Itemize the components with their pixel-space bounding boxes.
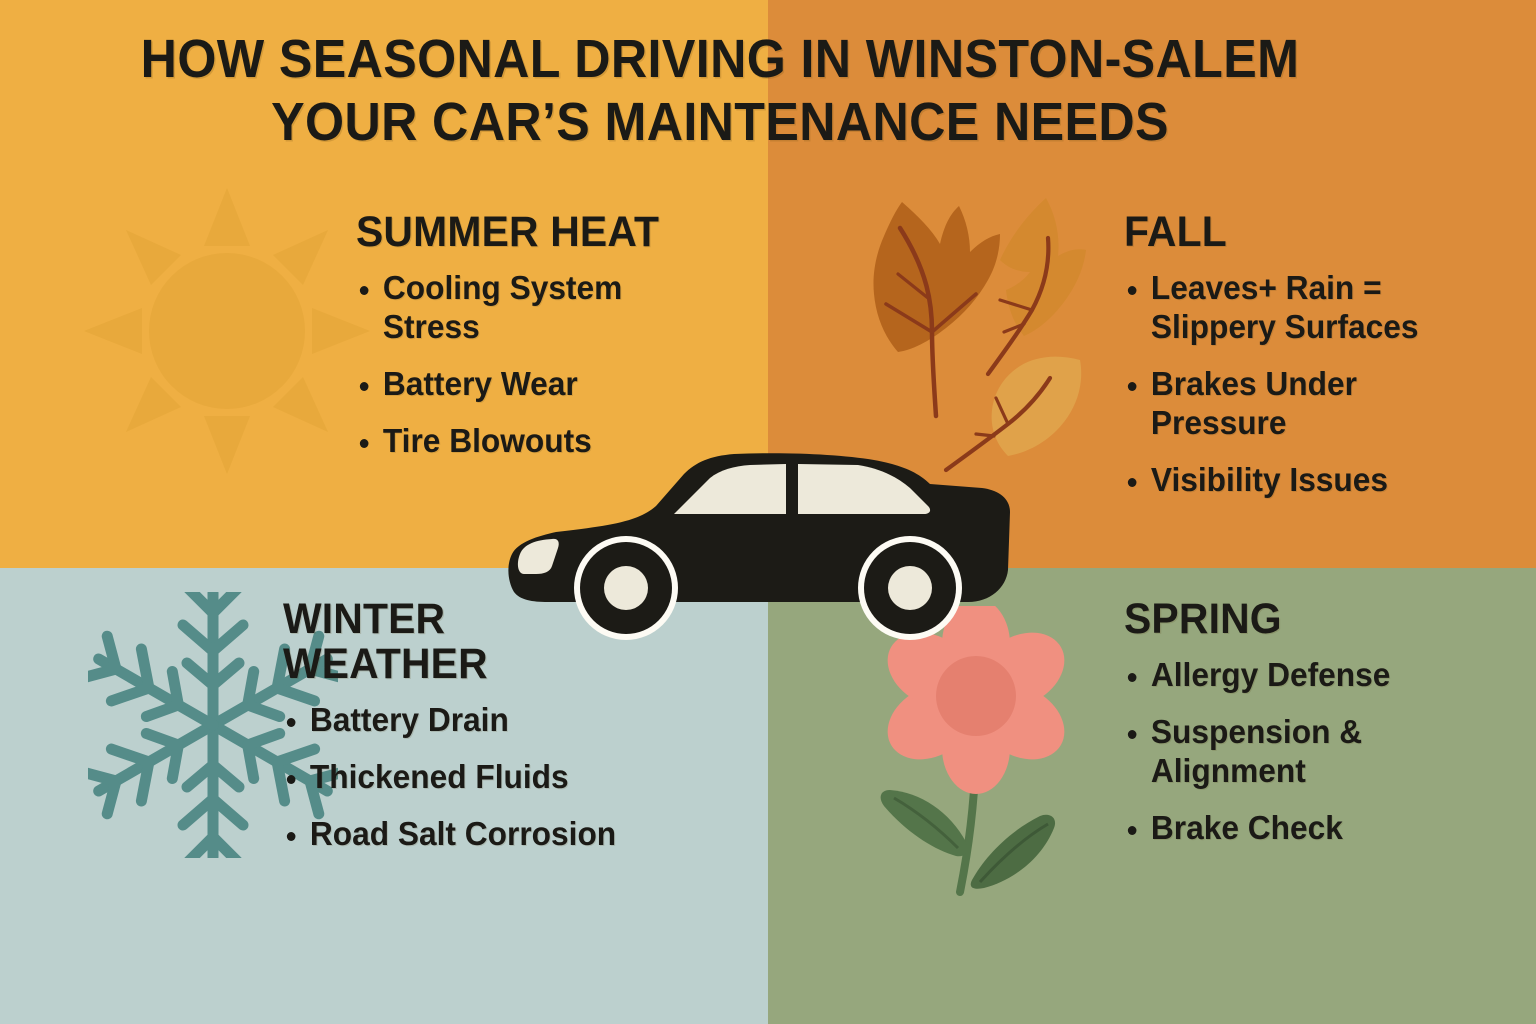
list-item: Cooling System Stress [356,269,673,347]
title-line-1: HOW SEASONAL DRIVING IN WINSTON-SALEM [50,28,1389,91]
list-item: Thickened Fluids [283,758,705,797]
section-summer: SUMMER HEAT Cooling System Stress Batter… [356,210,686,461]
flower-icon [848,606,1100,912]
bullet-list-spring: Allergy Defense Suspension & Alignment B… [1124,656,1464,848]
list-item: Suspension & Alignment [1124,713,1450,791]
list-item: Brake Check [1124,809,1450,848]
page-title: HOW SEASONAL DRIVING IN WINSTON-SALEM YO… [0,28,1440,154]
section-winter: WINTER WEATHER Battery Drain Thickened F… [283,597,723,854]
section-heading-winter: WINTER WEATHER [283,597,587,687]
section-heading-spring: SPRING [1124,597,1447,642]
section-heading-fall: FALL [1124,210,1457,255]
section-fall: FALL Leaves+ Rain = Slippery Surfaces Br… [1124,210,1474,500]
infographic-canvas: HOW SEASONAL DRIVING IN WINSTON-SALEM YO… [0,0,1536,1024]
leaf-large [873,202,1000,416]
rear-wheel [858,536,962,640]
list-item: Brakes Under Pressure [1124,365,1460,443]
list-item: Battery Drain [283,701,705,740]
section-spring: SPRING Allergy Defense Suspension & Alig… [1124,597,1464,848]
list-item: Tire Blowouts [356,422,673,461]
bullet-list-fall: Leaves+ Rain = Slippery Surfaces Brakes … [1124,269,1474,500]
section-heading-summer: SUMMER HEAT [356,210,670,255]
list-item: Leaves+ Rain = Slippery Surfaces [1124,269,1460,347]
list-item: Allergy Defense [1124,656,1450,695]
list-item: Visibility Issues [1124,461,1460,500]
sun-icon [84,188,370,474]
bullet-list-summer: Cooling System Stress Battery Wear Tire … [356,269,686,461]
list-item: Road Salt Corrosion [283,815,705,854]
list-item: Battery Wear [356,365,673,404]
title-line-2: YOUR CAR’S MAINTENANCE NEEDS [50,91,1389,154]
bullet-list-winter: Battery Drain Thickened Fluids Road Salt… [283,701,723,854]
leaf-medium [988,198,1086,374]
flower-center [936,656,1016,736]
